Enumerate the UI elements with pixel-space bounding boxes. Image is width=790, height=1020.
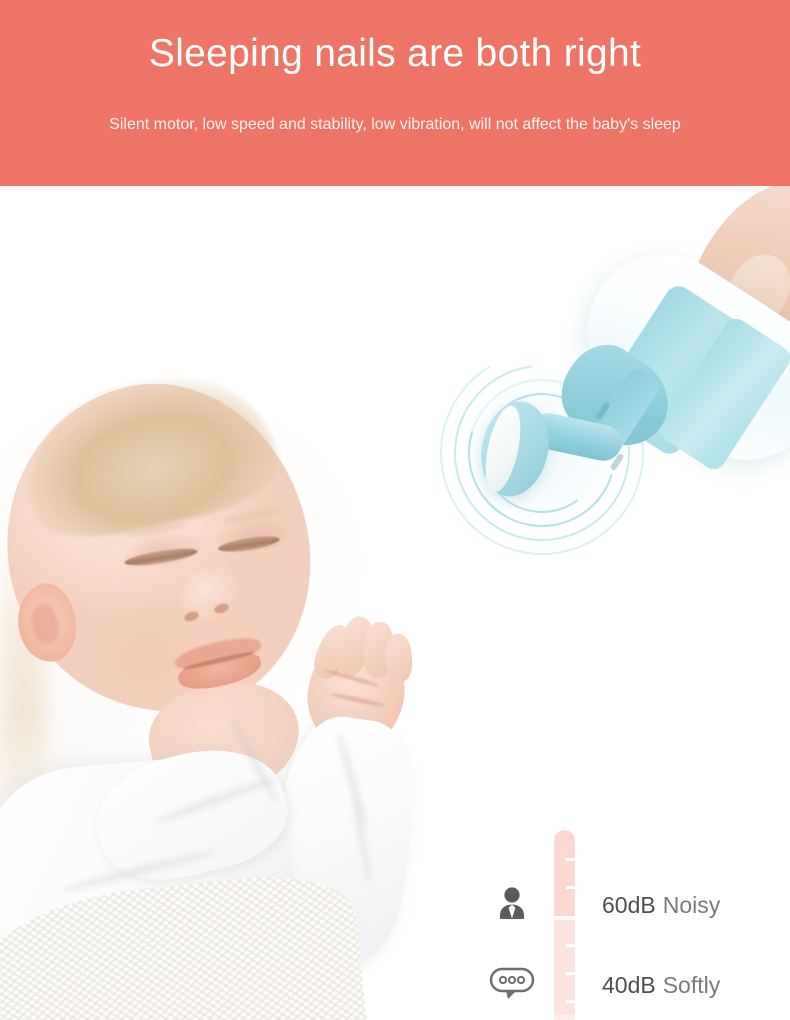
nail-polisher-device bbox=[430, 271, 790, 611]
page-subtitle: Silent motor, low speed and stability, l… bbox=[0, 113, 790, 137]
scale-row-value: 40dB bbox=[602, 972, 656, 998]
scale-row-value: 60dB bbox=[602, 892, 656, 918]
scale-row-noisy: 60dBNoisy bbox=[602, 894, 720, 917]
decibel-bar bbox=[554, 830, 575, 1020]
product-feature-page: Sleeping nails are both right Silent mot… bbox=[0, 0, 790, 1020]
speech-bubble-icon bbox=[484, 958, 540, 1010]
scale-tick bbox=[566, 886, 575, 889]
scale-row-name: Softly bbox=[663, 972, 721, 998]
person-icon bbox=[484, 878, 540, 930]
header-banner: Sleeping nails are both right Silent mot… bbox=[0, 0, 790, 186]
decibel-scale: 60dBNoisy 40dBSoftly 35dBPolisher 20dBLe… bbox=[484, 826, 790, 1020]
sleeping-baby-image bbox=[0, 366, 470, 1020]
scale-row-softly: 40dBSoftly bbox=[602, 974, 720, 997]
product-photo: 60dBNoisy 40dBSoftly 35dBPolisher 20dBLe… bbox=[0, 186, 790, 1020]
scale-tick bbox=[566, 858, 575, 861]
scale-tick bbox=[566, 1000, 575, 1003]
scale-row-name: Noisy bbox=[663, 892, 721, 918]
scale-segment-divider bbox=[554, 916, 575, 920]
scale-tick bbox=[566, 944, 575, 947]
page-title: Sleeping nails are both right bbox=[0, 30, 790, 78]
scale-tick bbox=[566, 972, 575, 975]
